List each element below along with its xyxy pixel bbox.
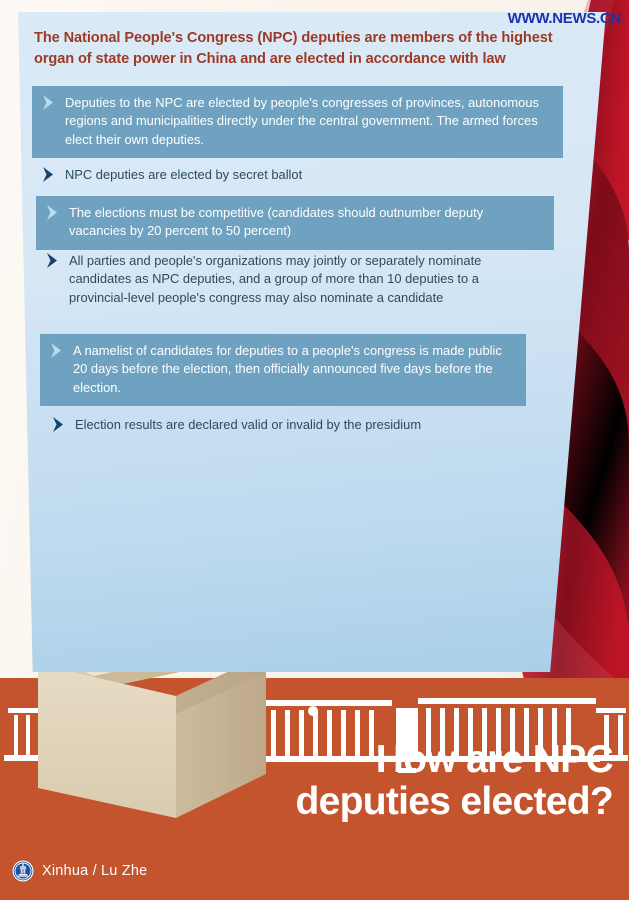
chevron-right-icon	[40, 94, 60, 111]
bullet-text-2: NPC deputies are elected by secret ballo…	[65, 166, 302, 184]
bullet-row-1: Deputies to the NPC are elected by peopl…	[32, 86, 563, 158]
watermark: WWW.NEWS.CN	[508, 10, 621, 27]
chevron-right-icon	[48, 342, 68, 359]
content-card: The National People's Congress (NPC) dep…	[18, 12, 606, 672]
xinhua-logo-icon	[12, 860, 34, 882]
bullet-text-5: A namelist of candidates for deputies to…	[73, 342, 516, 397]
bullet-row-2: NPC deputies are elected by secret ballo…	[32, 160, 552, 190]
credit: Xinhua / Lu Zhe	[12, 860, 147, 882]
credit-text: Xinhua / Lu Zhe	[42, 863, 147, 879]
bullet-row-4: All parties and people's organizations m…	[36, 246, 536, 313]
chevron-right-icon	[50, 416, 70, 433]
chevron-right-icon	[44, 252, 64, 269]
page-title: The National People's Congress (NPC) dep…	[34, 28, 579, 69]
chevron-right-icon	[44, 204, 64, 221]
headline-question-line2: deputies elected?	[193, 781, 613, 822]
bullet-row-5: A namelist of candidates for deputies to…	[40, 334, 526, 406]
bullet-text-1: Deputies to the NPC are elected by peopl…	[65, 94, 553, 149]
bullet-text-3: The elections must be competitive (candi…	[69, 204, 544, 241]
bullet-text-4: All parties and people's organizations m…	[69, 252, 526, 307]
bullet-row-3: The elections must be competitive (candi…	[36, 196, 554, 250]
chevron-right-icon	[40, 166, 60, 183]
infographic-canvas: The National People's Congress (NPC) dep…	[0, 0, 629, 900]
bullet-text-6: Election results are declared valid or i…	[75, 416, 421, 434]
bullet-row-6: Election results are declared valid or i…	[42, 410, 522, 440]
headline-question: How are NPC deputies elected?	[193, 739, 613, 822]
headline-question-line1: How are NPC	[193, 739, 613, 780]
